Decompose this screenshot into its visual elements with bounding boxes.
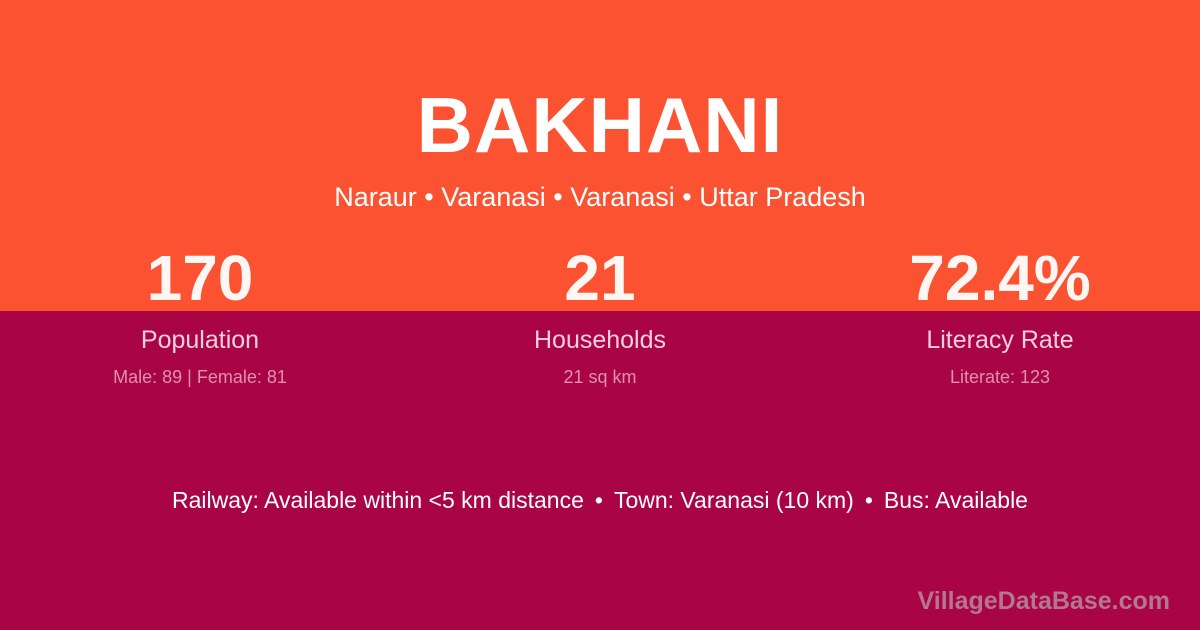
stat-label-population: Population [0,326,400,354]
amenity-town: Town: Varanasi (10 km) [614,487,854,513]
village-info-card: BAKHANI Naraur • Varanasi • Varanasi • U… [0,0,1200,630]
stat-sub-population: Male: 89 | Female: 81 [0,366,400,388]
stat-value-population: 170 [0,246,400,310]
breadcrumb: Naraur • Varanasi • Varanasi • Uttar Pra… [0,168,1200,214]
card-header: BAKHANI Naraur • Varanasi • Varanasi • U… [0,0,1200,214]
amenities-line: Railway: Available within <5 km distance… [0,484,1200,516]
stat-label-literacy-rate: Literacy Rate [800,326,1200,354]
stat-value-households: 21 [400,246,800,310]
stat-sub-households: 21 sq km [400,366,800,388]
stat-value-literacy-rate: 72.4% [800,246,1200,310]
amenity-bus: Bus: Available [884,487,1028,513]
page-title: BAKHANI [0,0,1200,168]
stat-block-literacy-rate: 72.4% Literacy Rate Literate: 123 [800,246,1200,388]
amenity-railway: Railway: Available within <5 km distance [172,487,584,513]
stat-sub-literacy-rate: Literate: 123 [800,366,1200,388]
bullet-separator-icon: • [854,484,884,516]
stats-row: 170 Population Male: 89 | Female: 81 21 … [0,246,1200,388]
site-watermark: VillageDataBase.com [918,586,1170,616]
stat-block-population: 170 Population Male: 89 | Female: 81 [0,246,400,388]
bullet-separator-icon: • [584,484,614,516]
stat-block-households: 21 Households 21 sq km [400,246,800,388]
stat-label-households: Households [400,326,800,354]
